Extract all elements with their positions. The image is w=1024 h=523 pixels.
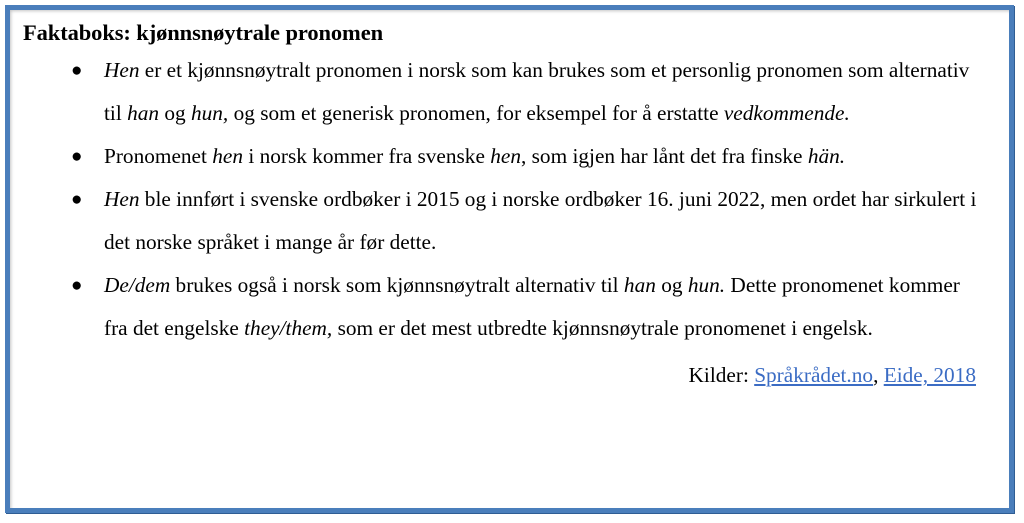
emphasis-text: hen — [212, 144, 243, 168]
emphasis-text: han — [127, 101, 159, 125]
factbox-bullet-list: ● Hen er et kjønnsnøytralt pronomen i no… — [18, 49, 995, 350]
bullet-text-hen-origin: Pronomenet hen i norsk kommer fra svensk… — [104, 144, 845, 168]
emphasis-text: hun. — [688, 273, 725, 297]
body-text: i norsk kommer fra svenske — [243, 144, 490, 168]
emphasis-text: hän. — [808, 144, 845, 168]
body-text: , som igjen har lånt det fra finske — [521, 144, 808, 168]
emphasis-text: Hen — [104, 187, 139, 211]
sources-label: Kilder: — [689, 363, 749, 387]
body-text: og — [159, 101, 191, 125]
bullet-marker-icon: ● — [71, 264, 85, 307]
body-text: Pronomenet — [104, 144, 212, 168]
list-item: ● Hen ble innført i svenske ordbøker i 2… — [18, 178, 995, 264]
sources-line: Kilder: Språkrådet.no, Eide, 2018 — [18, 358, 995, 392]
list-item: ● Hen er et kjønnsnøytralt pronomen i no… — [18, 49, 995, 135]
emphasis-text: hun, — [191, 101, 228, 125]
body-text: og — [656, 273, 688, 297]
bullet-marker-icon: ● — [71, 135, 85, 178]
body-text: ble innført i svenske ordbøker i 2015 og… — [104, 187, 976, 254]
bullet-text-hen-dictionaries: Hen ble innført i svenske ordbøker i 201… — [104, 187, 976, 254]
emphasis-text: hen — [490, 144, 521, 168]
bullet-marker-icon: ● — [71, 49, 85, 92]
body-text: som er det mest utbredte kjønnsnøytrale … — [332, 316, 873, 340]
source-link-sprakradet[interactable]: Språkrådet.no — [754, 363, 873, 387]
source-link-eide-2018[interactable]: Eide, 2018 — [884, 363, 976, 387]
factbox-content: Faktaboks: kjønnsnøytrale pronomen ● Hen… — [10, 10, 1009, 508]
emphasis-text: De/dem — [104, 273, 170, 297]
bullet-marker-icon: ● — [71, 178, 85, 221]
emphasis-text: han — [624, 273, 656, 297]
list-item: ● De/dem brukes også i norsk som kjønnsn… — [18, 264, 995, 350]
body-text: og som et generisk pronomen, for eksempe… — [228, 101, 724, 125]
body-text: brukes også i norsk som kjønnsnøytralt a… — [170, 273, 624, 297]
factbox-container: Faktaboks: kjønnsnøytrale pronomen ● Hen… — [5, 5, 1014, 513]
factbox-title: Faktaboks: kjønnsnøytrale pronomen — [23, 19, 995, 47]
bullet-text-de-dem: De/dem brukes også i norsk som kjønnsnøy… — [104, 273, 960, 340]
emphasis-text: vedkommende. — [724, 101, 850, 125]
emphasis-text: Hen — [104, 58, 139, 82]
emphasis-text: they/them, — [244, 316, 332, 340]
bullet-text-hen-definition: Hen er et kjønnsnøytralt pronomen i nors… — [104, 58, 969, 125]
list-item: ● Pronomenet hen i norsk kommer fra sven… — [18, 135, 995, 178]
